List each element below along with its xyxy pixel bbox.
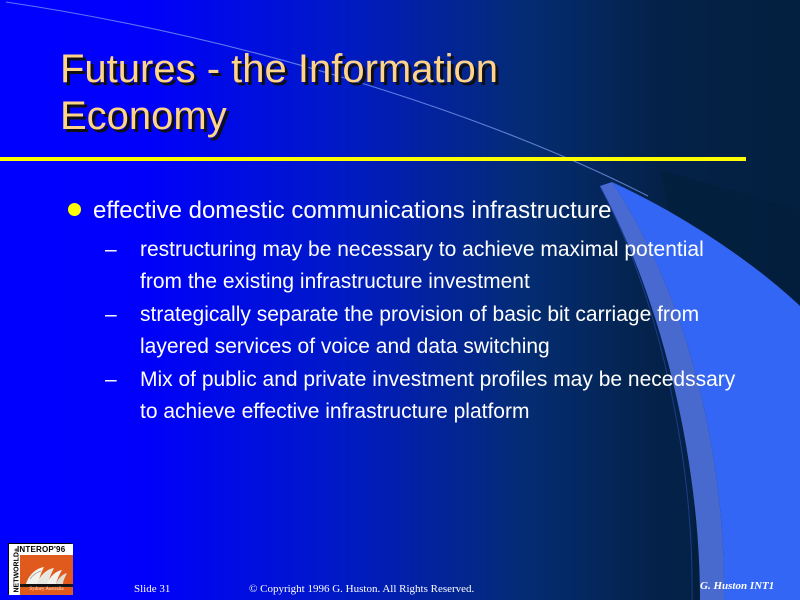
slide-body: effective domestic communications infras… [60,192,740,429]
author-attribution: G. Huston INT1 [700,580,774,592]
logo-side-strip: NETWORLD+ [9,555,20,595]
page-title: Futures - the Information Economy [60,46,740,140]
copyright-notice: © Copyright 1996 G. Huston. All Rights R… [249,583,474,595]
dash-bullet-icon: – [105,234,117,266]
bullet-text-level2: restructuring may be necessary to achiev… [140,234,740,298]
bullet-item-level1: effective domestic communications infras… [60,192,740,230]
list-item: – strategically separate the provision o… [60,299,740,363]
presentation-slide: Futures - the Information Economy effect… [0,0,800,600]
dash-bullet-icon: – [105,299,117,331]
bullet-text-level2: Mix of public and private investment pro… [140,364,740,428]
interop-logo: INTEROP'96 NETWORLD+ Sydney Australia [8,543,72,594]
list-item: – Mix of public and private investment p… [60,364,740,428]
bullet-text-level1: effective domestic communications infras… [93,192,740,230]
sub-bullet-list: – restructuring may be necessary to achi… [60,234,740,428]
slide-number: Slide 31 [134,583,170,595]
title-divider-rule [0,157,746,161]
dash-bullet-icon: – [105,364,117,396]
disc-bullet-icon [68,203,81,216]
title-block: Futures - the Information Economy [60,46,740,140]
list-item: – restructuring may be necessary to achi… [60,234,740,298]
logo-banner-text: INTEROP'96 [17,544,65,555]
bullet-text-level2: strategically separate the provision of … [140,299,740,363]
logo-caption: Sydney Australia [20,587,73,593]
